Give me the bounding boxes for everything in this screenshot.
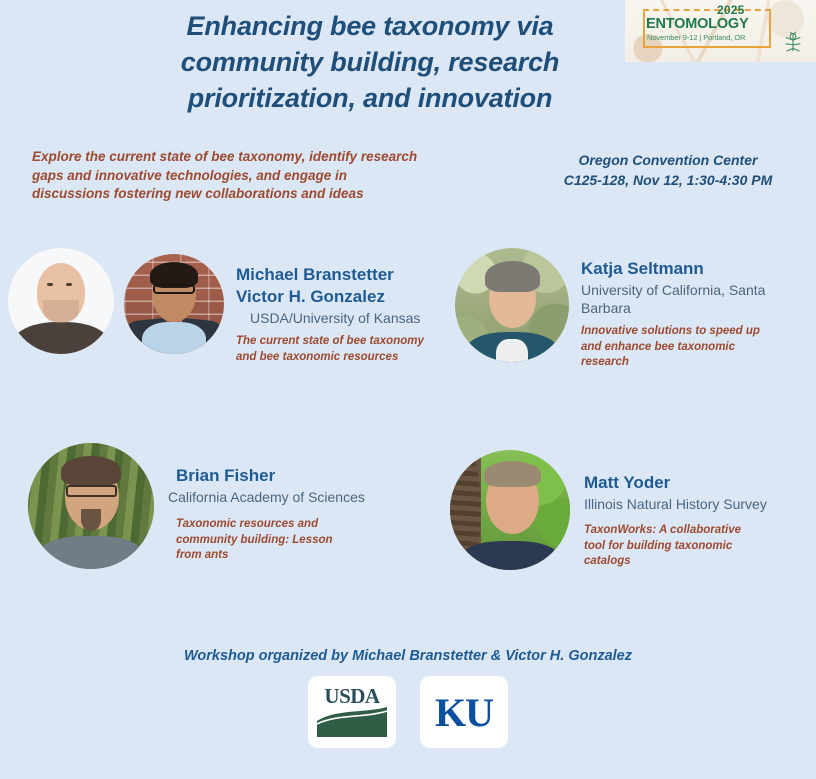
portrait-katja-seltmann xyxy=(455,248,569,362)
speaker-affiliation: California Academy of Sciences xyxy=(168,488,365,506)
usda-logo: USDA xyxy=(308,676,396,748)
intro-row: Explore the current state of bee taxonom… xyxy=(0,140,816,240)
speaker-info: Katja Seltmann University of California,… xyxy=(569,248,773,371)
venue-name: Oregon Convention Center xyxy=(520,150,816,170)
conference-year: 2025 xyxy=(717,3,745,17)
conference-badge: 2025 ENTOMOLOGY November 9-12 | Portland… xyxy=(625,0,816,62)
ku-logo-text: KU xyxy=(435,689,493,736)
portrait-brian-fisher xyxy=(28,443,154,569)
speaker-talk-title: Taxonomic resources and community buildi… xyxy=(168,517,360,564)
speaker-card-yoder: Matt Yoder Illinois Natural History Surv… xyxy=(450,450,767,570)
speaker-name: Michael Branstetter xyxy=(236,264,436,286)
page-title-line-2: community building, research xyxy=(100,44,640,80)
usda-landscape-mark xyxy=(315,705,389,739)
portrait-matt-yoder xyxy=(450,450,570,570)
conference-dates: November 9-12 | Portland, OR xyxy=(647,33,745,42)
header: Enhancing bee taxonomy via community bui… xyxy=(0,0,816,140)
speaker-affiliation: Illinois Natural History Survey xyxy=(584,495,767,513)
venue-info: Oregon Convention Center C125-128, Nov 1… xyxy=(520,150,816,190)
speaker-talk-title: The current state of bee taxonomy and be… xyxy=(236,334,436,365)
speaker-card-fisher: Brian Fisher California Academy of Scien… xyxy=(28,443,365,569)
sponsor-logos: USDA KU xyxy=(0,676,816,748)
speaker-photos xyxy=(28,443,154,569)
speaker-name-secondary: Victor H. Gonzalez xyxy=(236,286,436,308)
speaker-talk-title: Innovative solutions to speed up and enh… xyxy=(581,324,767,371)
speaker-affiliation: University of California, Santa Barbara xyxy=(581,281,773,317)
speaker-affiliation: USDA/University of Kansas xyxy=(236,309,436,327)
speaker-info: Michael Branstetter Victor H. Gonzalez U… xyxy=(224,248,436,365)
insect-icon xyxy=(782,30,804,54)
speaker-card-seltmann: Katja Seltmann University of California,… xyxy=(455,248,773,371)
speaker-talk-title: TaxonWorks: A collaborative tool for bui… xyxy=(584,523,760,570)
portrait-victor-gonzalez xyxy=(124,254,224,354)
speaker-photos xyxy=(455,248,569,362)
speaker-name: Matt Yoder xyxy=(584,472,767,494)
workshop-organizers: Workshop organized by Michael Branstette… xyxy=(0,648,816,664)
page-title: Enhancing bee taxonomy via community bui… xyxy=(100,8,640,116)
speaker-info: Matt Yoder Illinois Natural History Surv… xyxy=(570,450,767,570)
speaker-photos xyxy=(450,450,570,570)
page-title-line-1: Enhancing bee taxonomy via xyxy=(100,8,640,44)
speaker-name: Katja Seltmann xyxy=(581,258,773,280)
venue-room-and-time: C125-128, Nov 12, 1:30-4:30 PM xyxy=(520,170,816,190)
page-title-line-3: prioritization, and innovation xyxy=(100,80,640,116)
speaker-name: Brian Fisher xyxy=(168,465,365,487)
portrait-michael-branstetter xyxy=(8,248,114,354)
ku-logo: KU xyxy=(420,676,508,748)
speaker-photos xyxy=(8,248,224,354)
speaker-card-branstetter-gonzalez: Michael Branstetter Victor H. Gonzalez U… xyxy=(8,248,436,365)
speaker-info: Brian Fisher California Academy of Scien… xyxy=(154,443,365,564)
conference-name: ENTOMOLOGY xyxy=(646,16,748,32)
workshop-blurb: Explore the current state of bee taxonom… xyxy=(32,148,422,204)
